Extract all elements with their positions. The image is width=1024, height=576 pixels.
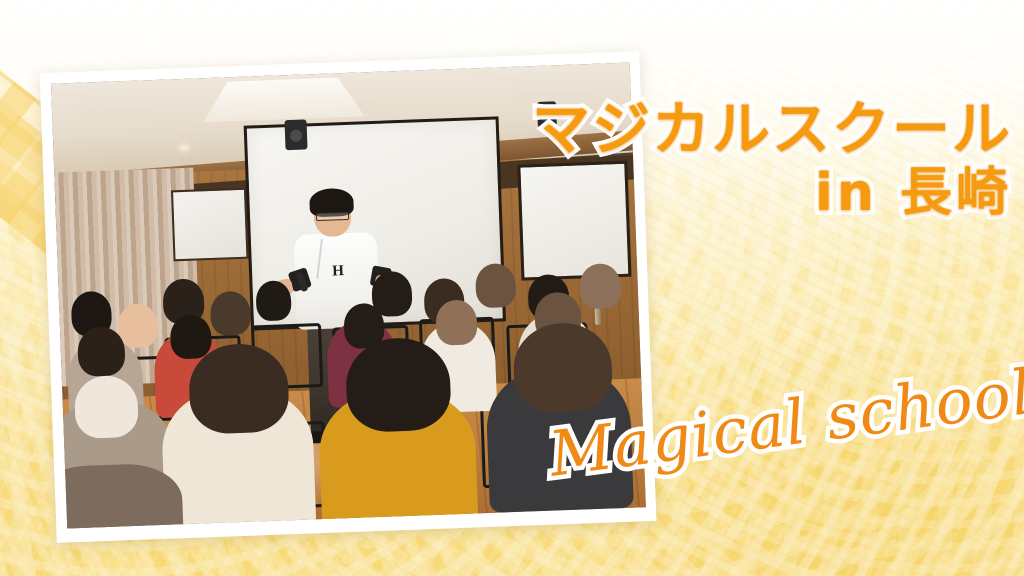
presenter-glasses <box>316 212 349 221</box>
audience-member <box>77 326 125 377</box>
audience-member <box>170 314 212 360</box>
poster-canvas: H <box>0 0 1024 576</box>
audience-member <box>255 280 291 321</box>
ceiling-speaker <box>284 119 307 150</box>
event-photo: H <box>51 63 646 529</box>
audience-member <box>579 263 621 309</box>
shirt-logo: H <box>332 263 343 280</box>
ceiling-speaker <box>537 101 557 128</box>
audience-member <box>436 300 478 346</box>
whiteboard-left <box>171 188 249 262</box>
event-photo-frame: H <box>40 51 657 543</box>
whiteboard-right <box>517 161 631 281</box>
